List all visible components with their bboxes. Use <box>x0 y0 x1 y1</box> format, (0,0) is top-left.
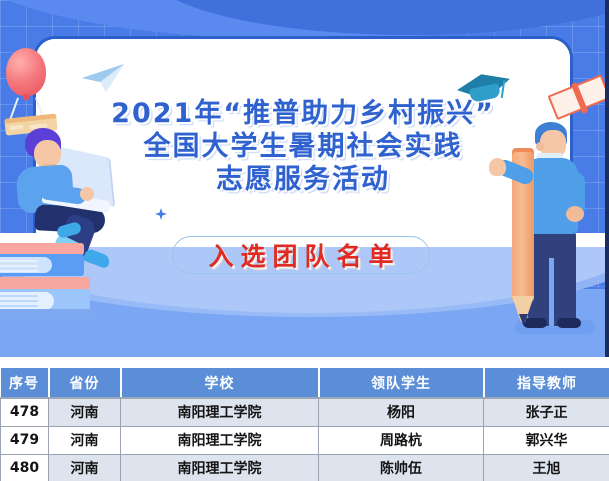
book-line <box>0 295 38 297</box>
cell-teacher: 张子正 <box>484 398 609 426</box>
cell-leader: 杨阳 <box>319 398 484 426</box>
cell-teacher: 郭兴华 <box>484 426 609 454</box>
balloon-knot-icon <box>23 94 29 100</box>
roster-table: 序号 省份 学校 领队学生 指导教师 478 河南 南阳理工学院 杨阳 张子正 … <box>0 368 609 481</box>
cell-index: 478 <box>1 398 49 426</box>
cell-school: 南阳理工学院 <box>121 454 319 481</box>
book-page-line-icon <box>9 125 23 130</box>
column-header-index: 序号 <box>1 368 49 398</box>
banner-title-line-1: 2021年“推普助力乡村振兴” <box>33 98 573 131</box>
cell-leader: 周路杭 <box>319 426 484 454</box>
man-elbow <box>566 206 584 222</box>
book-line <box>0 265 38 267</box>
column-header-leader: 领队学生 <box>319 368 484 398</box>
column-header-teacher: 指导教师 <box>484 368 609 398</box>
banner-title-line-3: 志愿服务活动 <box>33 164 573 197</box>
event-banner: 2021年“推普助力乡村振兴” 全国大学生暑期社会实践 志愿服务活动 入选团队名… <box>0 0 609 357</box>
cell-province: 河南 <box>49 426 121 454</box>
table-row: 480 河南 南阳理工学院 陈帅伍 王旭 <box>1 454 609 481</box>
highlight-label: 入选团队名单 <box>201 237 400 273</box>
page-root: 2021年“推普助力乡村振兴” 全国大学生暑期社会实践 志愿服务活动 入选团队名… <box>0 0 609 481</box>
book-line <box>0 270 38 272</box>
cell-school: 南阳理工学院 <box>121 426 319 454</box>
banner-title-block: 2021年“推普助力乡村振兴” 全国大学生暑期社会实践 志愿服务活动 <box>33 98 573 197</box>
cell-leader: 陈帅伍 <box>319 454 484 481</box>
cell-province: 河南 <box>49 454 121 481</box>
cell-teacher: 王旭 <box>484 454 609 481</box>
book-line <box>0 300 38 302</box>
banner-title-line-2: 全国大学生暑期社会实践 <box>33 131 573 164</box>
book-line <box>0 260 38 262</box>
book-line <box>0 305 38 307</box>
table-row: 479 河南 南阳理工学院 周路杭 郭兴华 <box>1 426 609 454</box>
column-header-province: 省份 <box>49 368 121 398</box>
book-cover-top <box>0 254 84 276</box>
man-leg-gap <box>549 258 554 326</box>
table-row: 478 河南 南阳理工学院 杨阳 张子正 <box>1 398 609 426</box>
table-header-row: 序号 省份 学校 领队学生 指导教师 <box>1 368 609 398</box>
cell-school: 南阳理工学院 <box>121 398 319 426</box>
highlight-capsule: 入选团队名单 <box>172 236 430 274</box>
cell-province: 河南 <box>49 398 121 426</box>
man-shoe-left <box>523 318 547 328</box>
man-shoe-right <box>557 318 581 328</box>
roster-table-container: 序号 省份 学校 领队学生 指导教师 478 河南 南阳理工学院 杨阳 张子正 … <box>0 368 609 481</box>
book-stack-shadow <box>0 309 98 319</box>
cell-index: 480 <box>1 454 49 481</box>
banner-right-edge <box>605 0 609 357</box>
column-header-school: 学校 <box>121 368 319 398</box>
balloon-icon <box>6 48 46 96</box>
cell-index: 479 <box>1 426 49 454</box>
